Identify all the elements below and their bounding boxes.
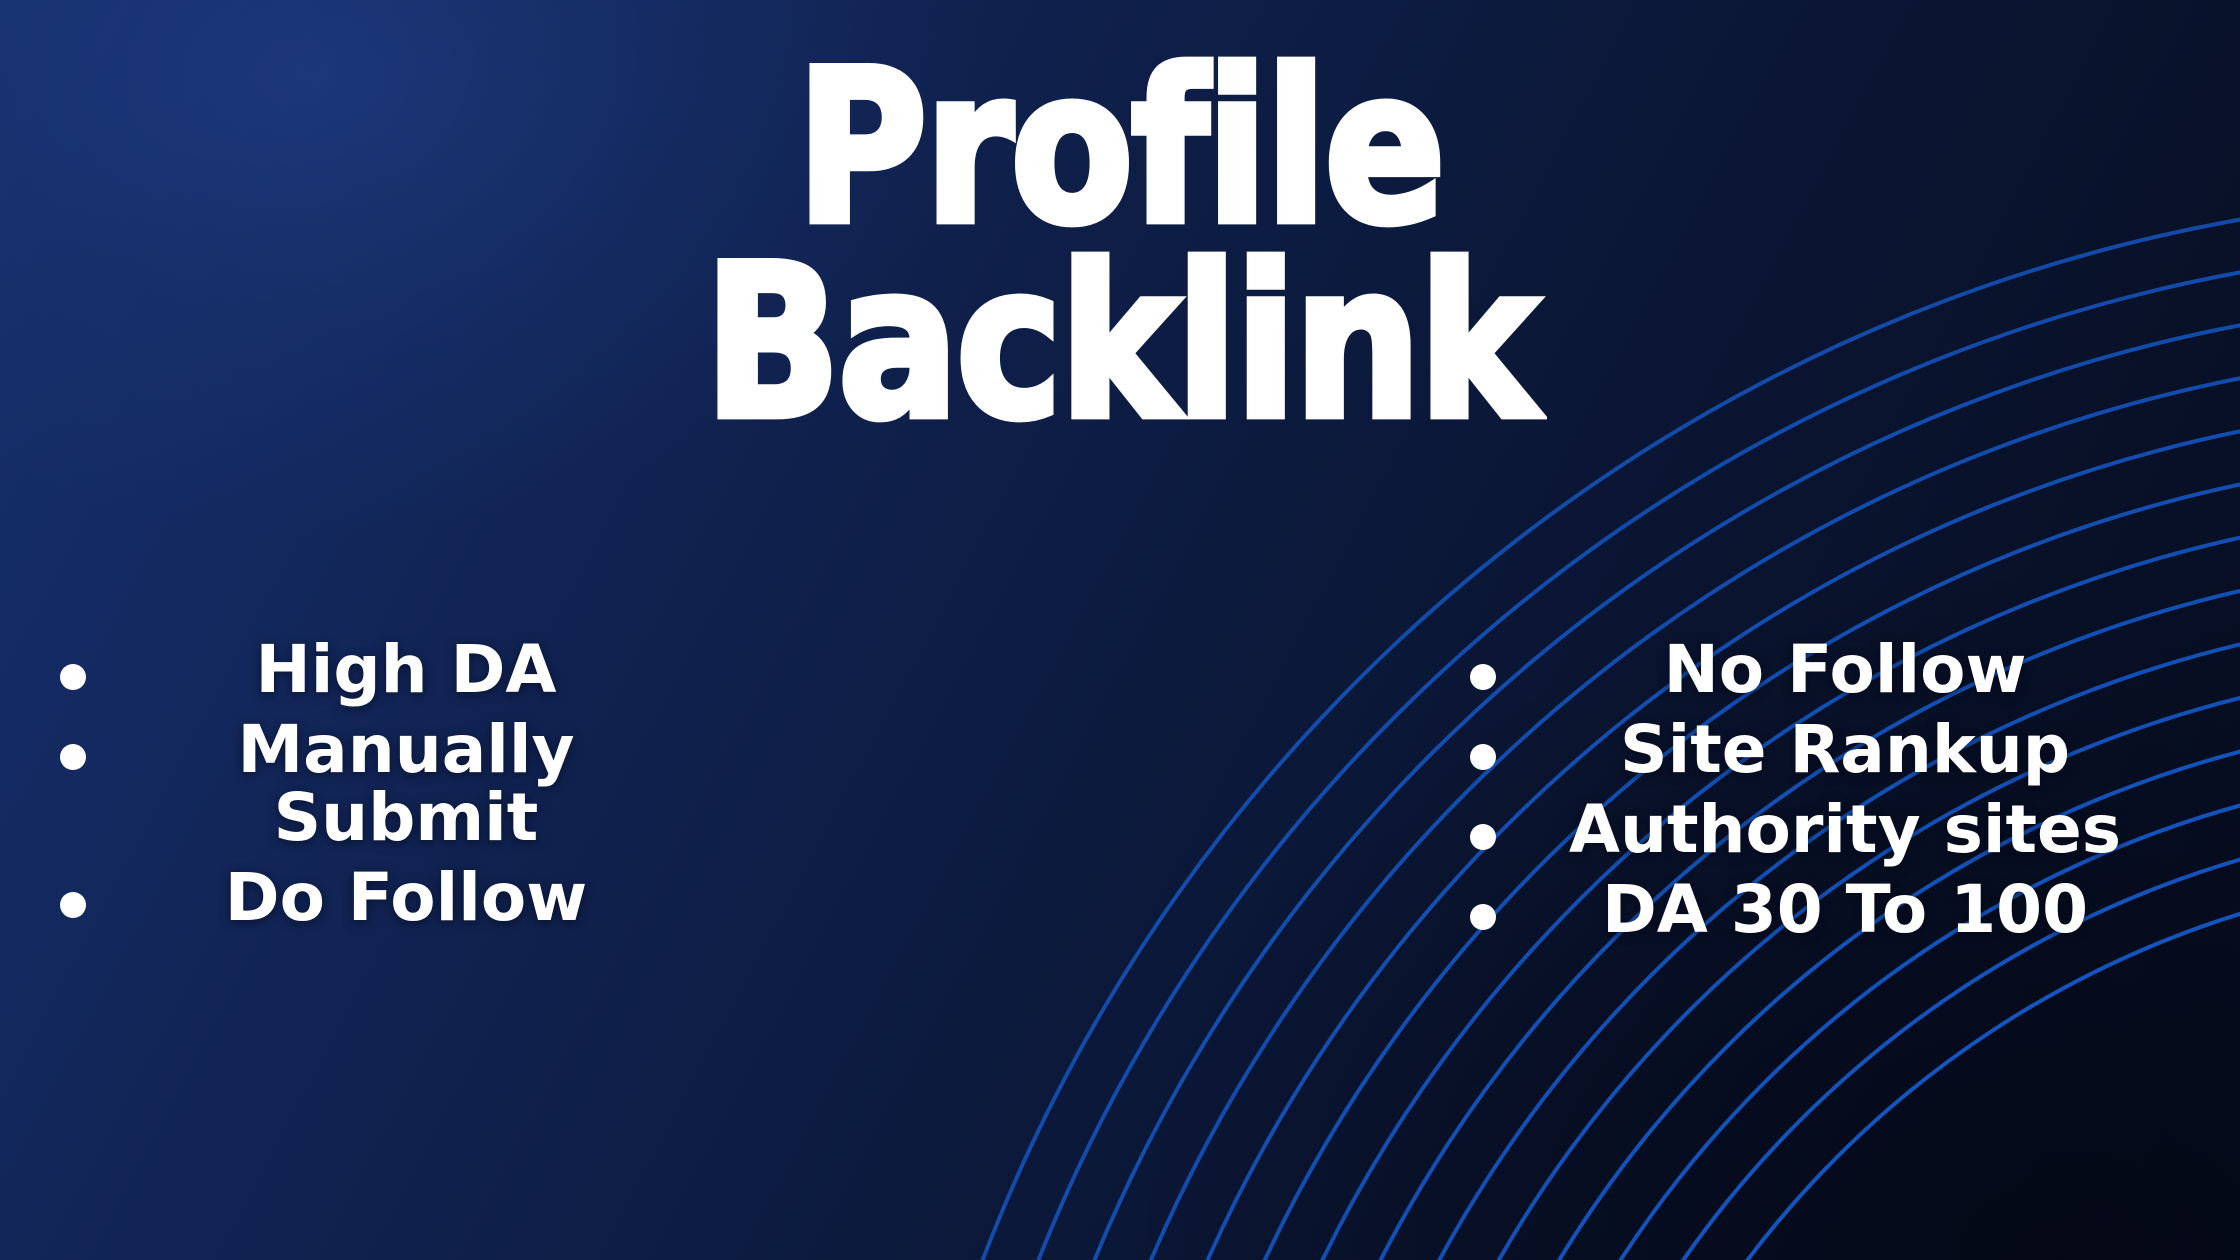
title-line-2: Backlink — [0, 243, 2240, 443]
list-item: Authority sites — [1470, 796, 2170, 864]
slide-canvas: Profile Backlink High DA Manually Submit… — [0, 0, 2240, 1260]
list-item-label: No Follow — [1520, 636, 2170, 704]
list-item: High DA — [60, 636, 700, 704]
list-item-label: Manually Submit — [112, 716, 700, 852]
page-title: Profile Backlink — [0, 48, 2240, 412]
bullet-icon — [1470, 744, 1496, 770]
bullet-icon — [1470, 904, 1496, 930]
bullet-icon — [1470, 824, 1496, 850]
list-item-label: Do Follow — [112, 864, 700, 932]
bullet-icon — [60, 892, 86, 918]
list-item-label: Site Rankup — [1520, 716, 2170, 784]
list-item-label: High DA — [112, 636, 700, 704]
list-item: No Follow — [1470, 636, 2170, 704]
list-item-label: DA 30 To 100 — [1520, 876, 2170, 944]
list-item: Do Follow — [60, 864, 700, 932]
bullet-icon — [1470, 664, 1496, 690]
list-item: Manually Submit — [60, 716, 700, 852]
bullet-icon — [60, 744, 86, 770]
feature-list-right: No Follow Site Rankup Authority sites DA… — [1470, 636, 2170, 956]
bullet-icon — [60, 664, 86, 690]
title-line-1: Profile — [0, 48, 2240, 248]
feature-list-left: High DA Manually Submit Do Follow — [60, 636, 700, 944]
list-item-label: Authority sites — [1520, 796, 2170, 864]
list-item: DA 30 To 100 — [1470, 876, 2170, 944]
list-item: Site Rankup — [1470, 716, 2170, 784]
